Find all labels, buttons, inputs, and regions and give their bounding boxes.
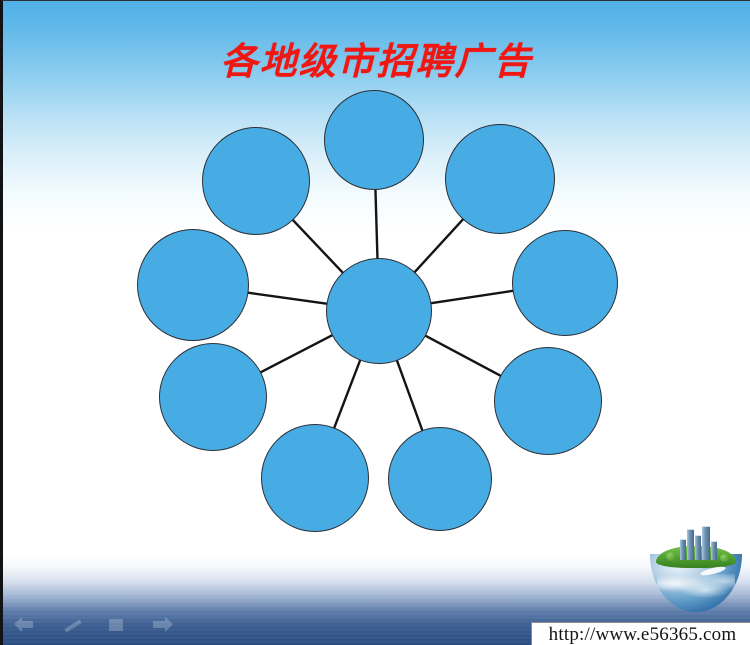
node-bottom-left[interactable] — [261, 424, 369, 532]
spoke-line — [429, 291, 514, 304]
spoke-line — [396, 359, 423, 432]
node-lower-right[interactable] — [494, 347, 602, 455]
tree-icon — [720, 554, 729, 562]
watermark-url: http://www.e56365.com — [549, 624, 737, 645]
node-upper-right[interactable] — [445, 124, 555, 234]
city-skyline-icon — [680, 526, 720, 560]
node-lower-left[interactable] — [159, 343, 267, 451]
watermark-box: http://www.e56365.com — [531, 622, 750, 645]
spoke-line — [375, 188, 377, 260]
node-left[interactable] — [137, 229, 249, 341]
node-right[interactable] — [512, 230, 618, 336]
node-bottom-right[interactable] — [388, 427, 492, 531]
slide-canvas: 各地级市招聘广告 http://www.e56365.com — [0, 0, 750, 645]
spoke-line — [413, 218, 464, 273]
spoke-line — [292, 219, 344, 274]
spoke-line — [334, 359, 361, 430]
spoke-line — [246, 292, 328, 303]
node-upper-left[interactable] — [202, 127, 310, 235]
globe-city-logo — [648, 524, 744, 616]
spoke-line — [424, 335, 502, 377]
spoke-line — [259, 334, 334, 373]
center-node[interactable] — [326, 258, 432, 364]
tree-icon — [666, 552, 676, 561]
node-top[interactable] — [324, 90, 424, 190]
radial-diagram — [3, 1, 750, 645]
